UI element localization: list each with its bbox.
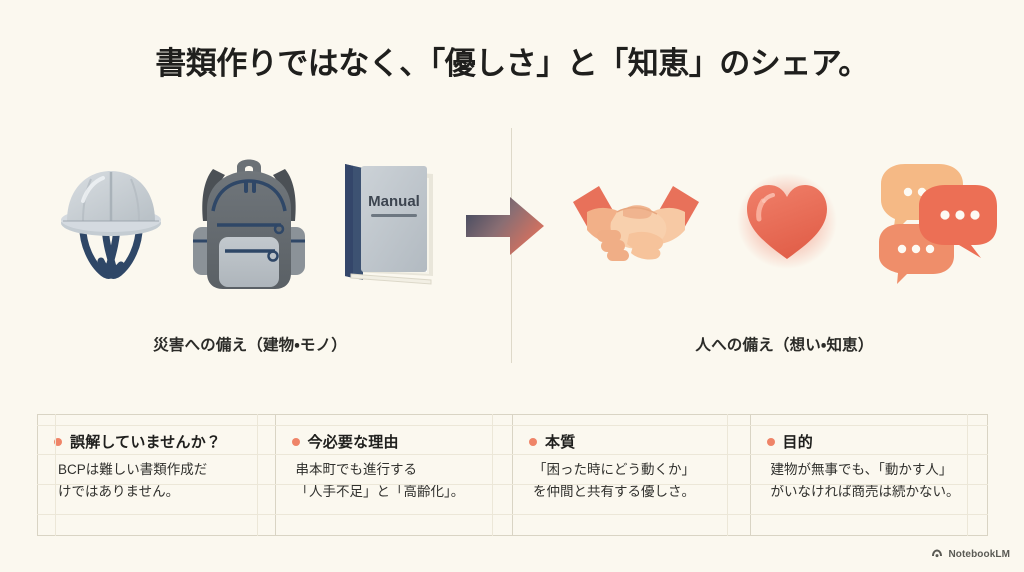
fact-title: 今必要な理由 bbox=[308, 431, 399, 452]
fact-body: 「困った時にどう動くか」 を仲間と共有する優しさ。 bbox=[529, 459, 736, 503]
handshake-icon bbox=[571, 168, 701, 279]
fact-cell: 本質 「困った時にどう動くか」 を仲間と共有する優しさ。 bbox=[513, 415, 751, 535]
notebooklm-watermark: NotebookLM bbox=[931, 547, 1010, 562]
facts-table: 誤解していませんか？ BCPは難しい書類作成だ けではありません。 今必要な理由… bbox=[37, 414, 988, 536]
notebooklm-label: NotebookLM bbox=[948, 549, 1010, 560]
fact-header: 本質 bbox=[529, 431, 736, 452]
bullet-dot-icon bbox=[292, 438, 300, 446]
fact-cell: 誤解していませんか？ BCPは難しい書類作成だ けではありません。 bbox=[38, 415, 276, 535]
fact-title: 誤解していませんか？ bbox=[70, 431, 221, 452]
fact-header: 今必要な理由 bbox=[292, 431, 499, 452]
hard-hat-icon bbox=[57, 161, 165, 286]
heart-icon bbox=[735, 171, 839, 276]
right-arrow-icon bbox=[466, 193, 544, 259]
manual-book-icon: Manual bbox=[333, 156, 443, 291]
left-caption: 災害への備え（建物・モノ） bbox=[0, 333, 574, 355]
fact-cell: 今必要な理由 串本町でも進行する 「人手不足」と「高齢化」。 bbox=[276, 415, 514, 535]
backpack-icon bbox=[187, 147, 311, 300]
fact-header: 目的 bbox=[767, 431, 974, 452]
manual-cover-text: Manual bbox=[368, 193, 420, 210]
bullet-dot-icon bbox=[529, 438, 537, 446]
comparison-left: Manual 災害への備え（建物・モノ） bbox=[0, 128, 500, 363]
fact-title: 本質 bbox=[545, 431, 575, 452]
bullet-dot-icon bbox=[54, 438, 62, 446]
fact-body: 串本町でも進行する 「人手不足」と「高齢化」。 bbox=[292, 459, 499, 503]
notebooklm-logo-icon bbox=[931, 547, 943, 562]
fact-body: BCPは難しい書類作成だ けではありません。 bbox=[54, 459, 261, 503]
comparison-right: 人への備え（想い・知恵） bbox=[525, 128, 1024, 363]
slide-root: 書類作りではなく、「優しさ」と「知恵」のシェア。 bbox=[0, 0, 1024, 572]
fact-header: 誤解していませんか？ bbox=[54, 431, 261, 452]
fact-cell: 目的 建物が無事でも、「動かす人」 がいなければ商売は続かない。 bbox=[751, 415, 988, 535]
bullet-dot-icon bbox=[767, 438, 775, 446]
right-caption: 人への備え（想い・知恵） bbox=[525, 333, 1024, 355]
speech-bubbles-icon bbox=[873, 158, 999, 289]
right-icon-row bbox=[525, 138, 1024, 308]
page-title: 書類作りではなく、「優しさ」と「知恵」のシェア。 bbox=[0, 38, 1024, 83]
fact-title: 目的 bbox=[783, 431, 813, 452]
fact-body: 建物が無事でも、「動かす人」 がいなければ商売は続かない。 bbox=[767, 459, 974, 503]
